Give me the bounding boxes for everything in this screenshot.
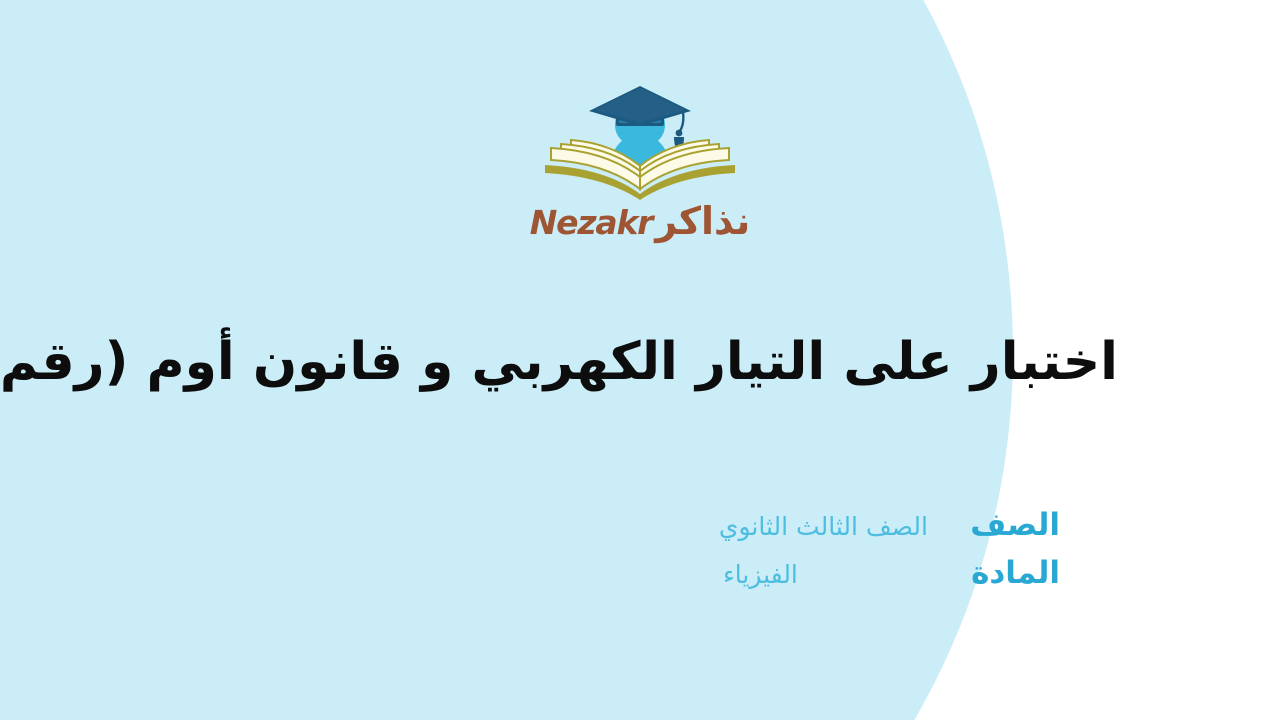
brand-wordmark-arabic: نذاكر	[655, 202, 750, 240]
metadata-value-grade: الصف الثالث الثانوي	[719, 513, 928, 542]
slide-metadata: الصف الصف الثالث الثانوي المادة الفيزياء	[719, 508, 1060, 591]
brand-wordmark: نذاكر Nezakr	[530, 202, 750, 240]
metadata-label-subject: المادة	[950, 556, 1060, 592]
brand-wordmark-latin: Nezakr	[530, 206, 653, 239]
metadata-label-grade: الصف	[950, 508, 1060, 544]
metadata-value-subject: الفيزياء	[723, 561, 928, 590]
metadata-row-subject: المادة الفيزياء	[719, 556, 1060, 592]
tassel-knot-shape	[676, 130, 683, 137]
metadata-row-grade: الصف الصف الثالث الثانوي	[719, 508, 1060, 544]
mortarboard-highlight-shape	[595, 88, 685, 123]
graduation-book-icon	[533, 82, 747, 200]
title-slide: نذاكر Nezakr اختبار على التيار الكهربي و…	[0, 0, 1280, 720]
slide-title: اختبار على التيار الكهربي و قانون أوم (ر…	[60, 330, 1118, 395]
brand-logo: نذاكر Nezakr	[0, 82, 1280, 240]
tassel-cord-shape	[680, 112, 683, 131]
